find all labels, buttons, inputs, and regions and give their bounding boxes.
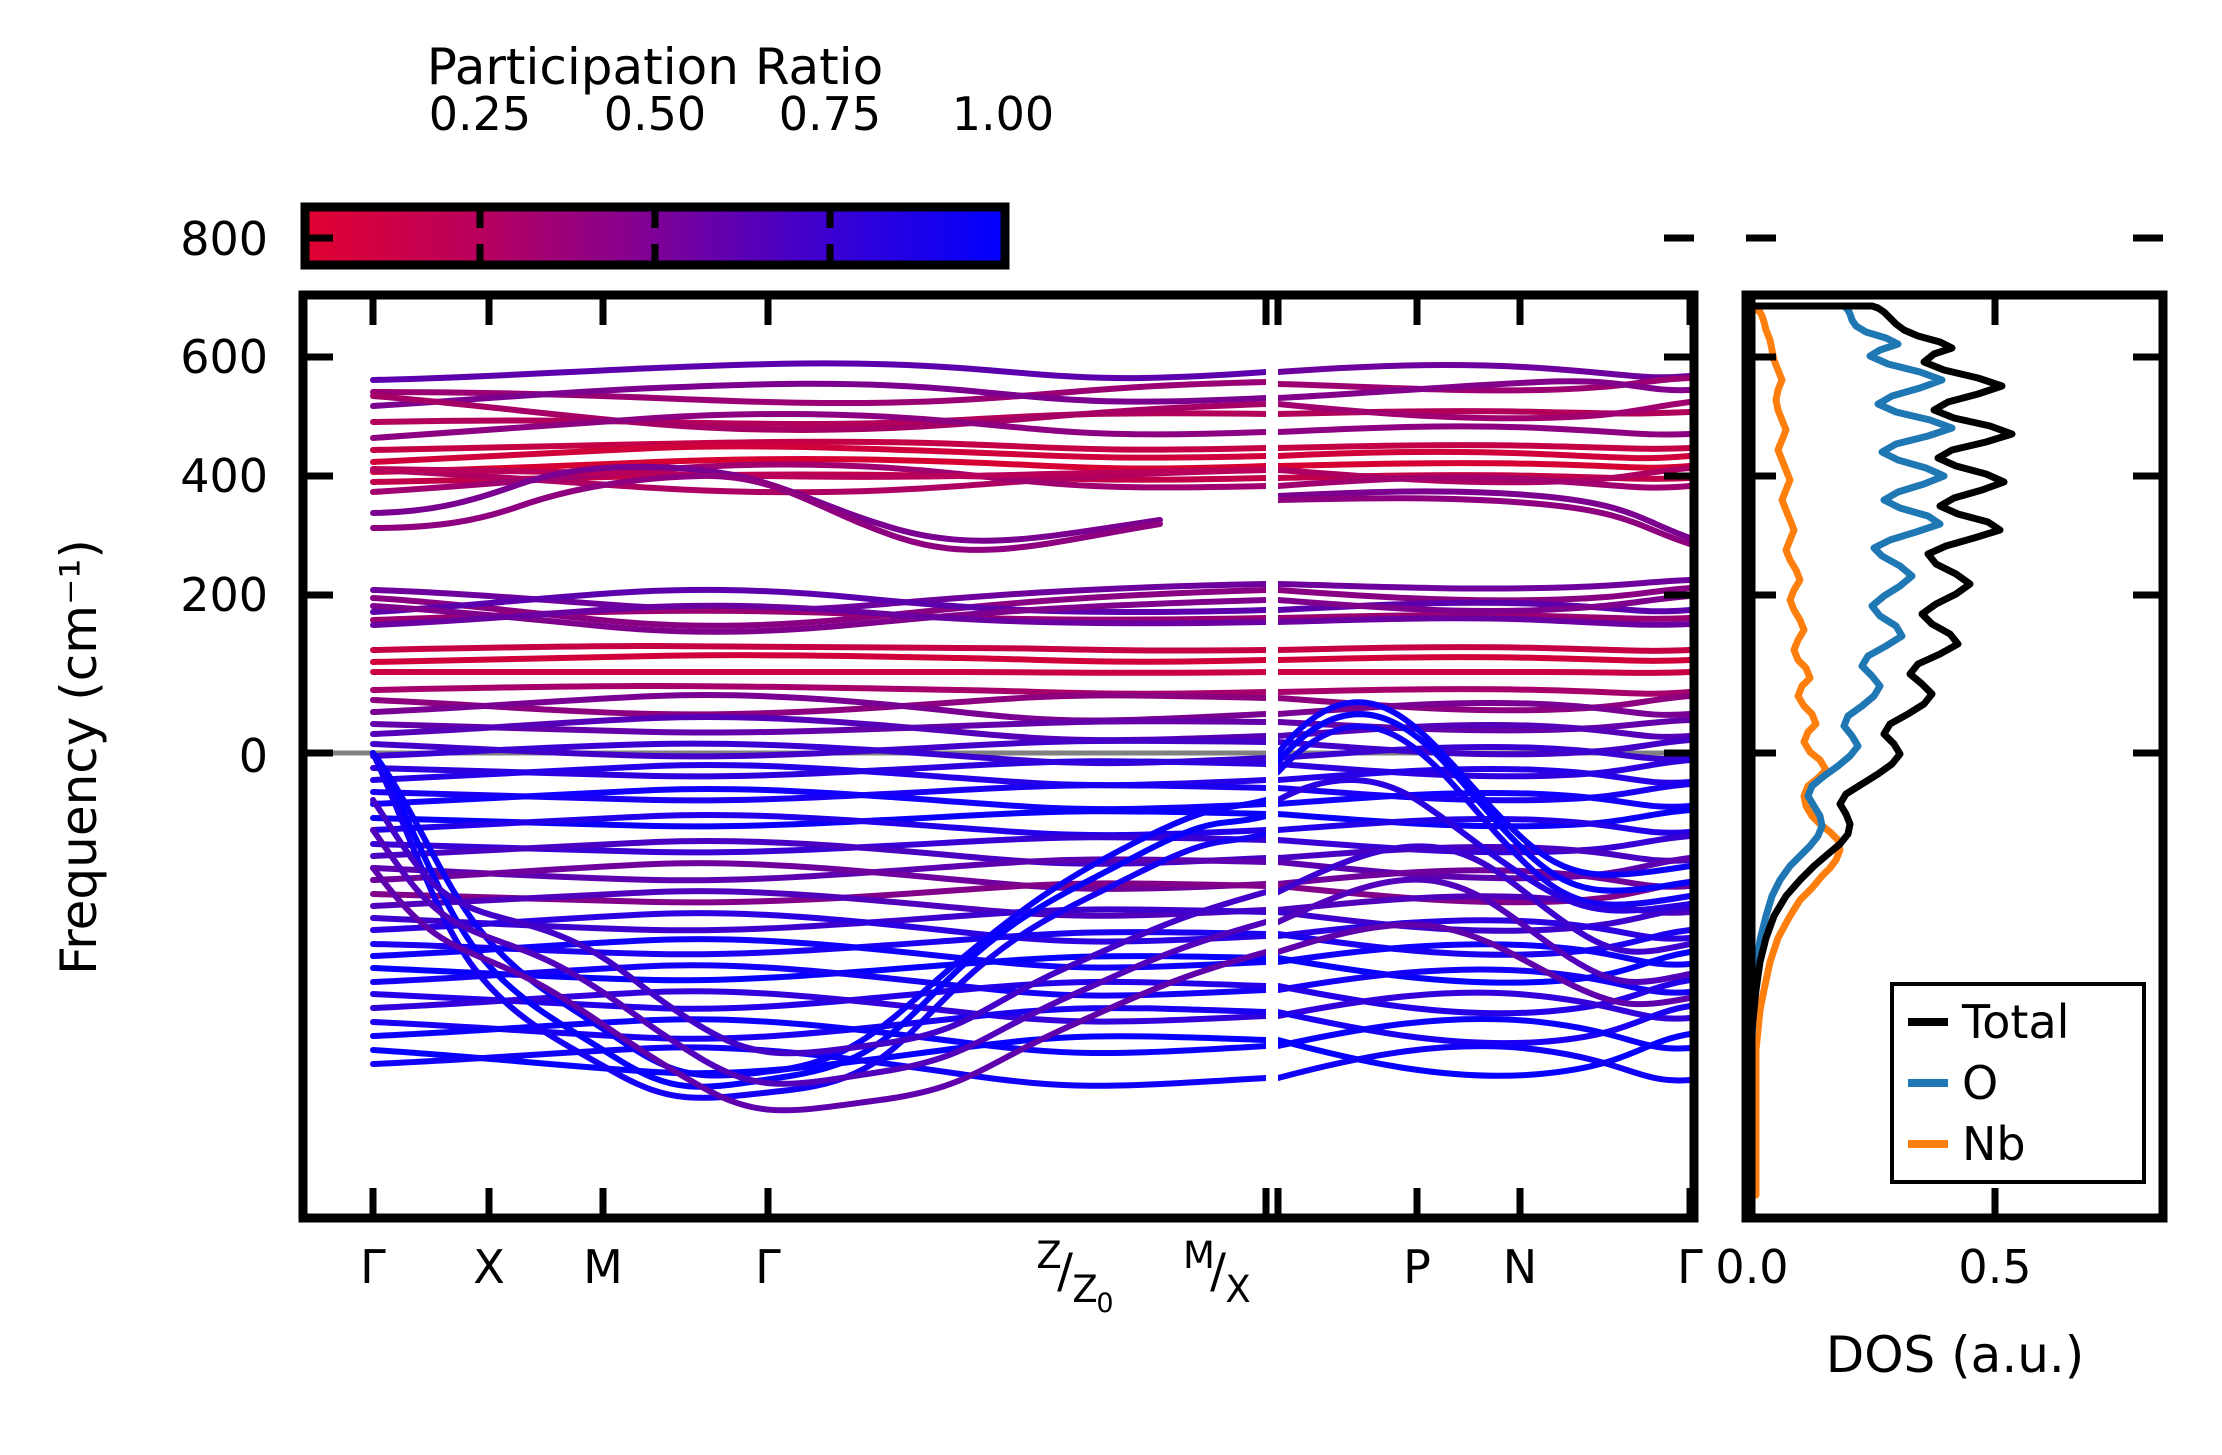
svg-text:/: / — [1210, 1244, 1226, 1299]
svg-text:0: 0 — [1096, 1288, 1113, 1319]
legend-label-o: O — [1962, 1056, 1998, 1110]
svg-text:X: X — [1225, 1268, 1250, 1311]
x-tick-label-X: X — [473, 1240, 505, 1294]
phonon-figure: Participation Ratio 0.25 0.50 0.75 1.00 … — [0, 0, 2222, 1455]
legend-label-total: Total — [1961, 995, 2069, 1049]
svg-text:Z: Z — [1072, 1268, 1097, 1311]
y-tick-label-0: 0 — [239, 729, 268, 783]
colorbar-tick-label-3: 1.00 — [952, 87, 1054, 141]
y-tick-label-600: 600 — [180, 330, 268, 384]
x-tick-label-gamma-2: Γ — [755, 1240, 781, 1294]
dos-x-axis-label: DOS (a.u.) — [1826, 1326, 2085, 1384]
band-path-break — [1266, 296, 1278, 1217]
dos-x-tick-label-1: 0.5 — [1958, 1240, 2031, 1294]
y-tick-label-200: 200 — [180, 568, 268, 622]
y-axis-label: Frequency (cm⁻¹) — [50, 539, 108, 975]
dos-x-tick-label-0: 0.0 — [1715, 1240, 1788, 1294]
figure-canvas: Participation Ratio 0.25 0.50 0.75 1.00 … — [0, 0, 2222, 1455]
x-tick-label-gamma-3: Γ — [1677, 1240, 1703, 1294]
colorbar-tick-label-1: 0.50 — [604, 87, 706, 141]
x-tick-label-N: N — [1503, 1240, 1537, 1294]
svg-text:/: / — [1057, 1244, 1073, 1299]
colorbar-tick-label-2: 0.75 — [779, 87, 881, 141]
y-tick-label-400: 400 — [180, 449, 268, 503]
dos-legend: Total O Nb — [1892, 984, 2144, 1182]
x-tick-label-M: M — [583, 1240, 623, 1294]
colorbar-tick-label-0: 0.25 — [429, 87, 531, 141]
x-tick-label-P: P — [1403, 1240, 1431, 1294]
x-tick-label-gamma-1: Γ — [360, 1240, 386, 1294]
y-tick-label-800: 800 — [180, 212, 268, 266]
legend-label-nb: Nb — [1962, 1117, 2026, 1171]
